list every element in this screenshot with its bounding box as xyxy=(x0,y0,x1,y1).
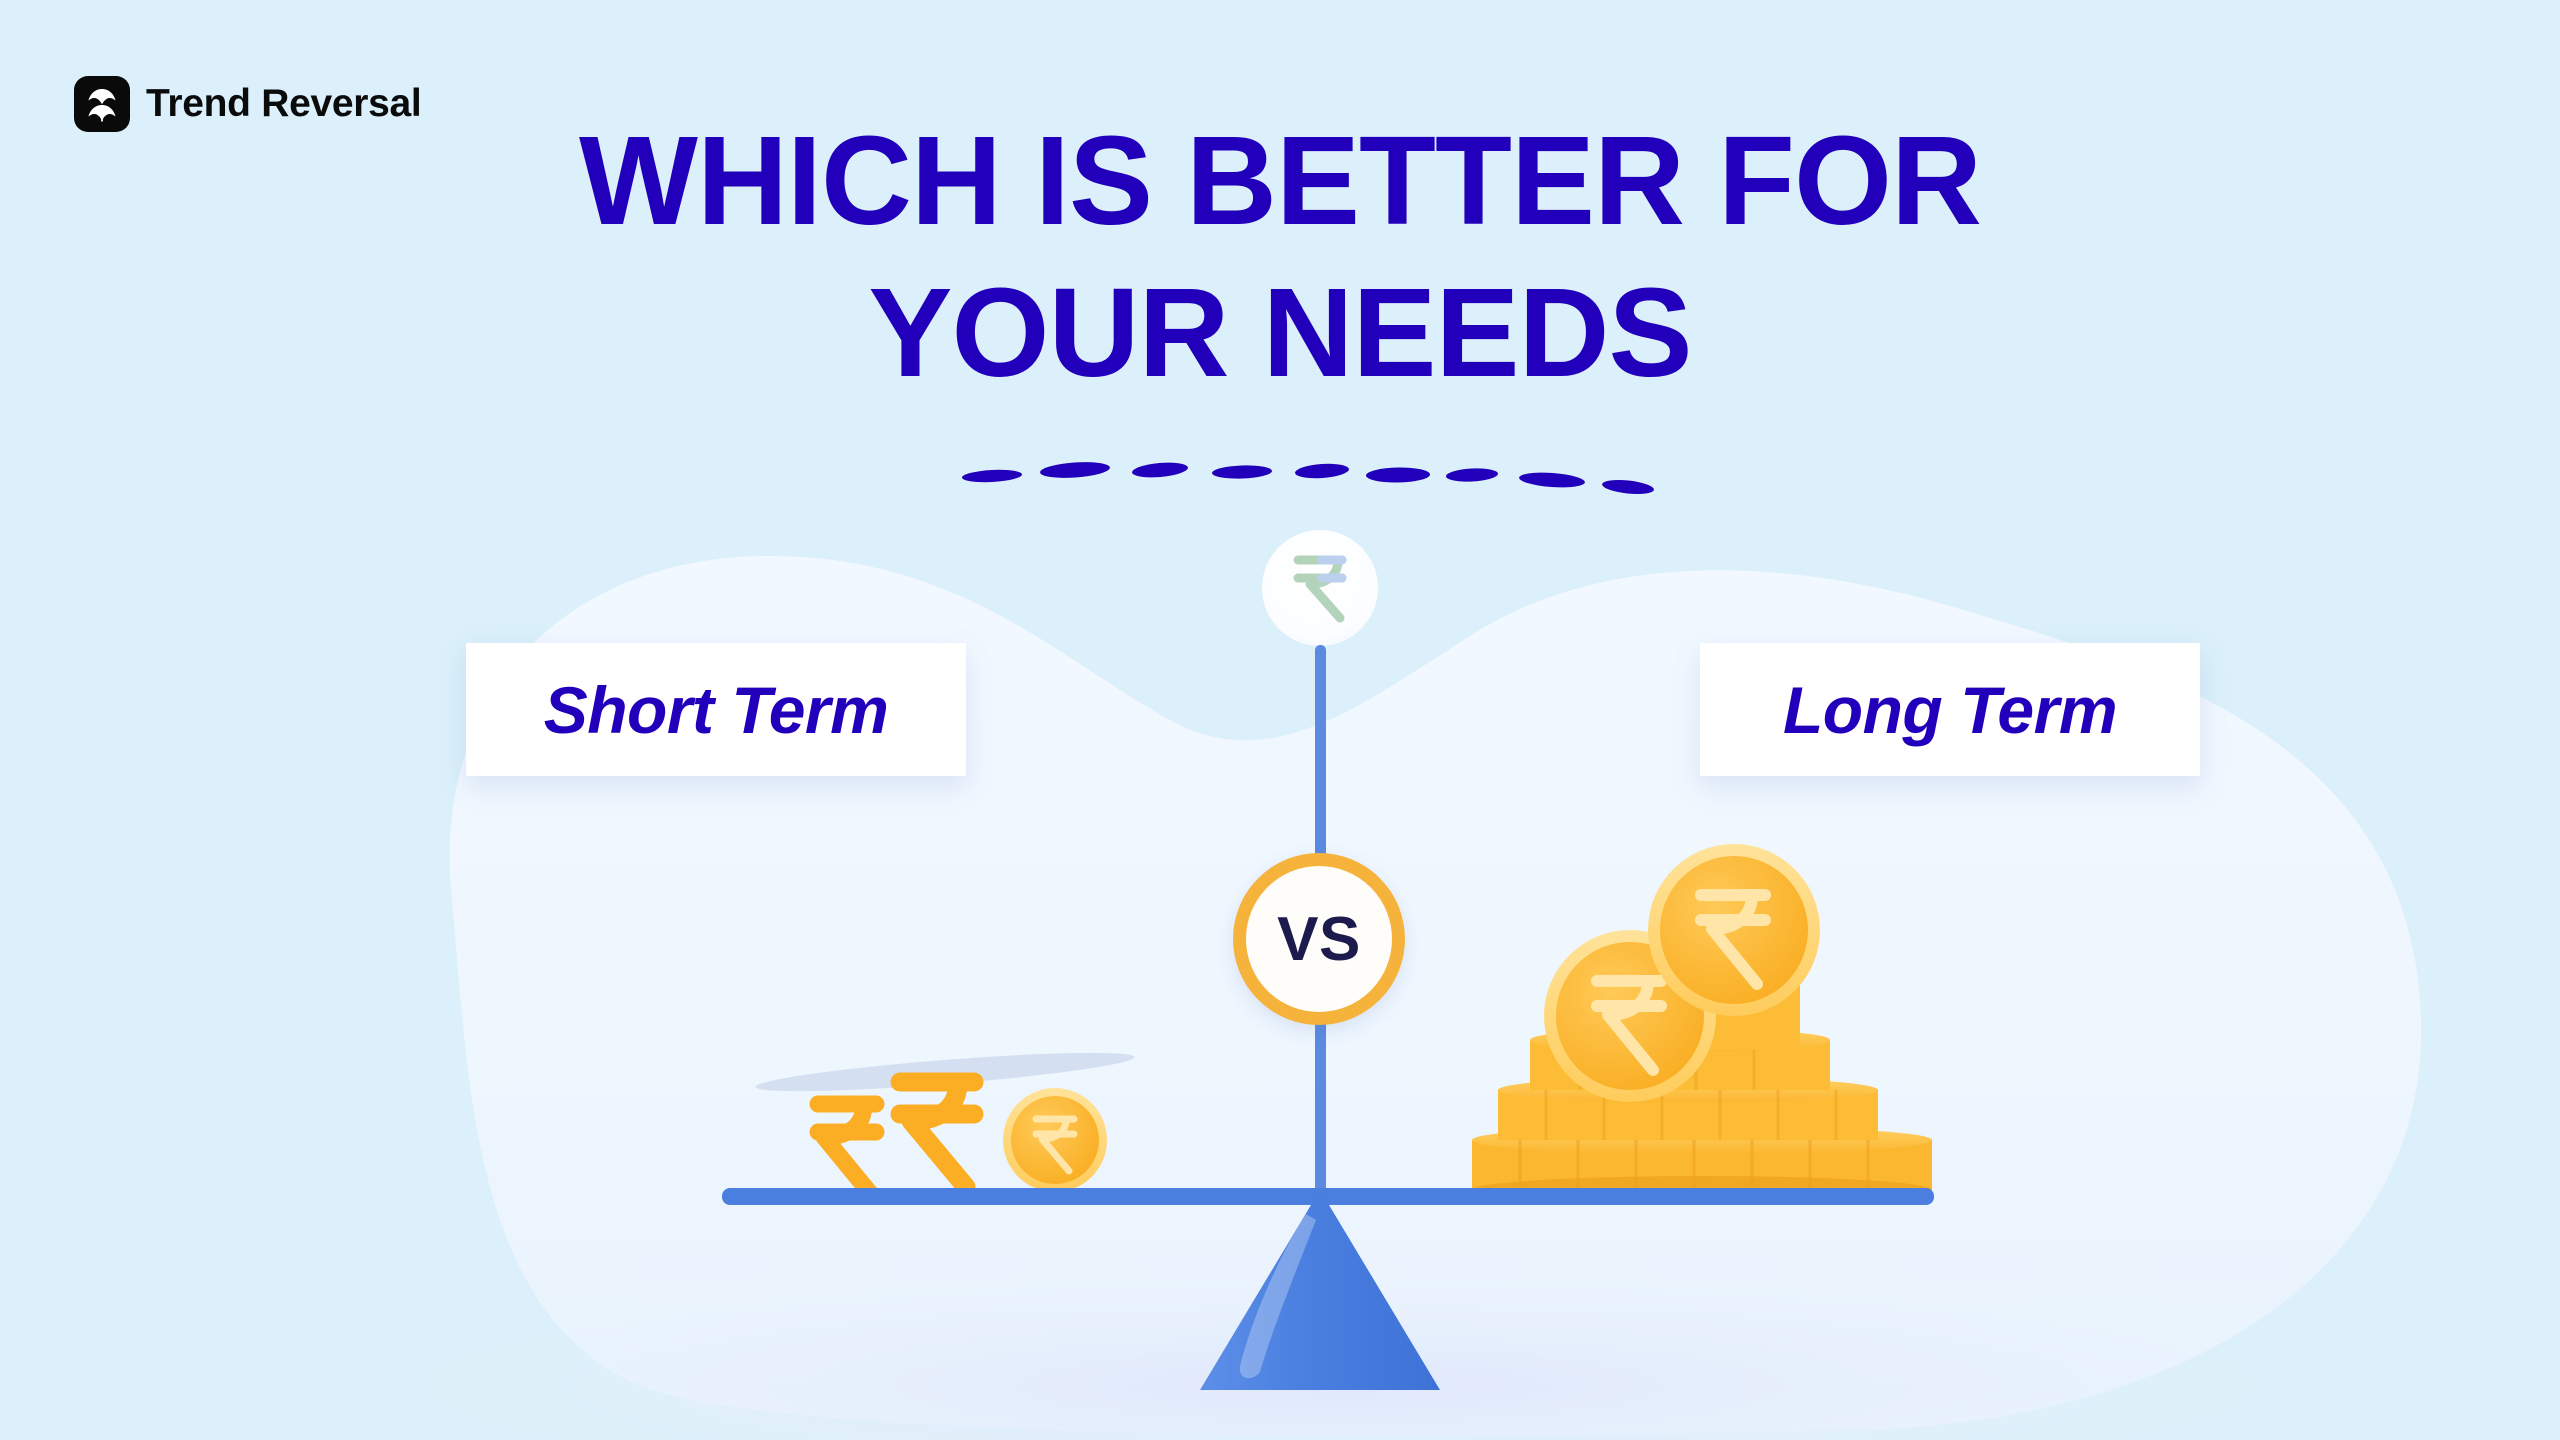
short-term-card[interactable]: Short Term xyxy=(466,643,966,776)
right-pan-contents xyxy=(1472,844,1932,1204)
versus-badge-label: VS xyxy=(1277,904,1361,975)
rupee-symbol-icon-1 xyxy=(818,1104,876,1193)
top-rupee-coin-icon xyxy=(1262,530,1378,646)
long-term-card[interactable]: Long Term xyxy=(1700,643,2200,776)
rupee-symbol-icon-2 xyxy=(900,1082,974,1187)
left-rupee-coin-icon xyxy=(1003,1088,1107,1192)
short-term-label: Short Term xyxy=(544,672,889,748)
poster-canvas: Trend Reversal WHICH IS BETTER FOR YOUR … xyxy=(0,0,2560,1440)
versus-badge-icon: VS xyxy=(1233,853,1405,1025)
scale-beam xyxy=(722,1188,1934,1205)
scale-fulcrum xyxy=(1200,1190,1440,1390)
left-pan-contents xyxy=(755,1045,1136,1193)
long-term-label: Long Term xyxy=(1783,672,2117,748)
right-rupee-coin-icon-front xyxy=(1648,844,1820,1016)
